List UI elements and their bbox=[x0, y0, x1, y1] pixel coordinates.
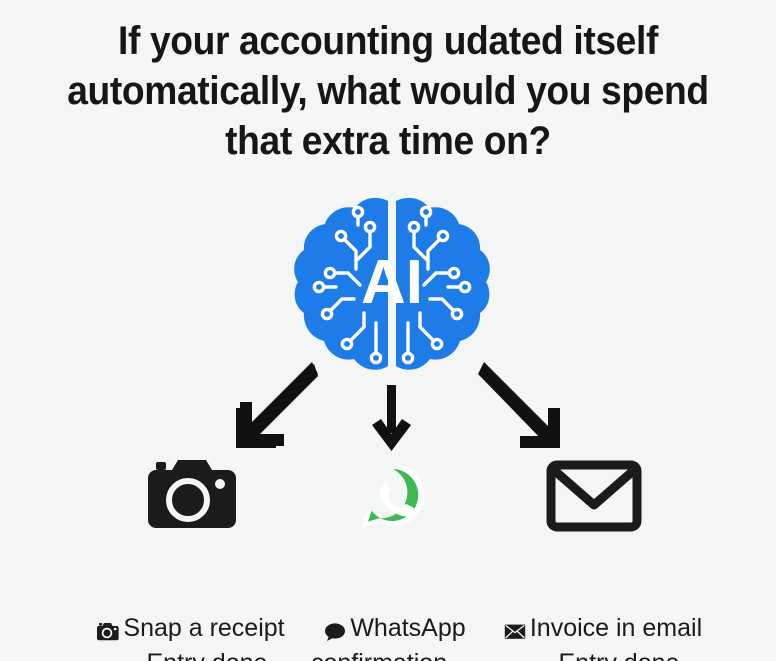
arrow-to-whatsapp bbox=[366, 385, 418, 453]
whatsapp-icon bbox=[358, 462, 428, 532]
brain-ai-label: AI bbox=[361, 248, 423, 317]
page-title: If your accounting udated itself automat… bbox=[27, 16, 749, 166]
channel-caption-whatsapp: WhatsApp confirmation → Entry done bbox=[300, 548, 490, 661]
camera-glyph bbox=[97, 581, 119, 647]
envelope-glyph bbox=[504, 581, 526, 647]
ai-brain-icon: AI bbox=[292, 195, 492, 385]
arrow-to-camera bbox=[222, 362, 318, 454]
channel-caption-camera: Snap a receipt → Entry done bbox=[78, 548, 304, 661]
arrow-to-email bbox=[478, 362, 574, 454]
envelope-icon bbox=[546, 460, 642, 532]
caption-text-camera: Snap a receipt → Entry done bbox=[115, 614, 285, 661]
camera-icon bbox=[148, 458, 236, 530]
caption-text-email: Invoice in email → Entry done bbox=[527, 614, 703, 661]
speech-bubble-glyph bbox=[324, 581, 346, 647]
infographic-canvas: If your accounting udated itself automat… bbox=[0, 0, 776, 661]
channel-caption-email: Invoice in email → Entry done bbox=[490, 548, 716, 661]
